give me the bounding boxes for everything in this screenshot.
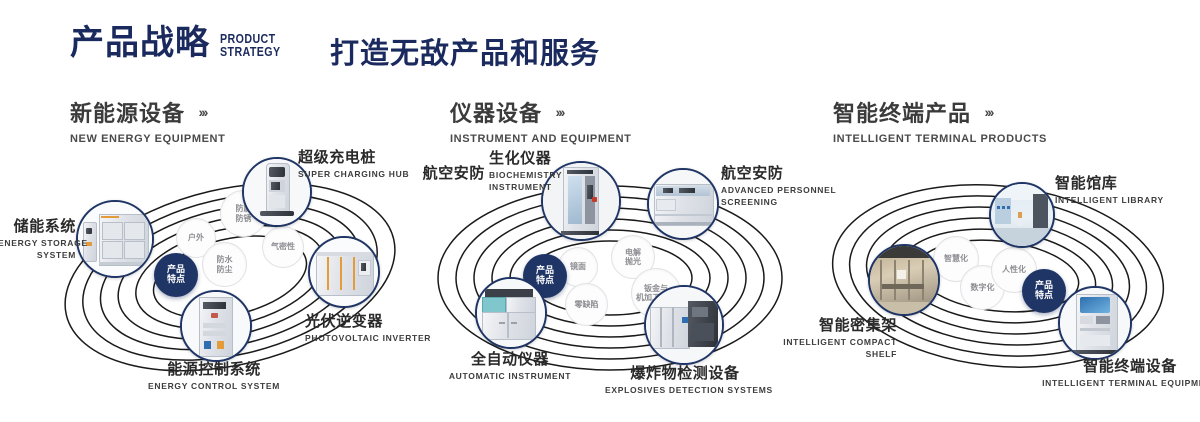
chevron-right-icon: ›››: [198, 104, 206, 120]
core-text-l2: 特点: [167, 275, 185, 285]
screening-machine-art: [649, 170, 717, 238]
diagram-new-energy: 户外 防腐 防锈 防水 防尘 气密性 产品 特点: [50, 150, 410, 400]
diagram-intelligent-terminal: 智慧化 数字化 人性化 产品 特点: [815, 150, 1185, 400]
section-title-en: INSTRUMENT AND EQUIPMENT: [450, 133, 631, 145]
section-title-cn: 新能源设备: [70, 96, 185, 128]
section-title-new-energy: 新能源设备 ››› NEW ENERGY EQUIPMENT: [70, 96, 225, 145]
self-service-kiosk-art: [1060, 288, 1130, 358]
node-label-en-line1: INTELLIGENT COMPACT: [737, 337, 897, 347]
node-label-cn: 储能系统: [0, 215, 76, 236]
feature-text-l1: 电解: [625, 248, 641, 257]
explosive-detector-art: [646, 287, 722, 363]
node-label-aviation-security-extra: 航空安防: [385, 162, 485, 183]
core-text-l1: 产品: [536, 266, 554, 276]
compact-shelf-art: [870, 246, 938, 314]
node-explosives-detection-systems[interactable]: [644, 285, 724, 365]
chevron-right-icon: ›››: [555, 104, 563, 120]
node-label-photovoltaic-inverter: 光伏逆变器 PHOTOVOLTAIC INVERTER: [305, 310, 431, 343]
node-label-intelligent-terminal-equipment: 智能终端设备 INTELLIGENT TERMINAL EQUIPMENT: [1040, 355, 1200, 388]
feature-text-l2: 防尘: [217, 265, 233, 274]
node-label-energy-control-system: 能源控制系统 ENERGY CONTROL SYSTEM: [134, 358, 294, 391]
node-label-cn: 爆炸物检测设备: [605, 362, 765, 383]
core-text-l2: 特点: [1035, 291, 1053, 301]
page-headline: 打造无敌产品和服务: [330, 30, 600, 72]
feature-text-l2: 抛光: [625, 257, 641, 266]
node-label-intelligent-library: 智能馆库 INTELLIGENT LIBRARY: [1055, 172, 1164, 205]
brand-title-en-line2: STRATEGY: [220, 45, 281, 58]
node-label-en-line2: SHELF: [737, 349, 897, 359]
feature-text-l1: 零缺陷: [575, 300, 599, 309]
feature-text-l1: 智慧化: [944, 254, 968, 263]
feature-text-l1: 镜面: [570, 262, 586, 271]
node-label-en-line1: ENERGY CONTROL SYSTEM: [134, 381, 294, 391]
node-label-intelligent-compact-shelf: 智能密集架 INTELLIGENT COMPACT SHELF: [737, 314, 897, 359]
node-label-energy-storage-system: 储能系统 ENERGY STORAGE SYSTEM: [0, 215, 76, 260]
node-label-explosives-detection-systems: 爆炸物检测设备 EXPLOSIVES DETECTION SYSTEMS: [605, 362, 765, 395]
brand-title-en: PRODUCT STRATEGY: [220, 32, 281, 58]
node-intelligent-terminal-equipment[interactable]: [1058, 286, 1132, 360]
feature-bubble: 气密性: [262, 226, 304, 268]
node-label-en-line1: ENERGY STORAGE: [0, 238, 76, 248]
feature-bubble: 零缺陷: [565, 283, 608, 326]
section-title-en: NEW ENERGY EQUIPMENT: [70, 133, 225, 145]
node-photovoltaic-inverter[interactable]: [308, 236, 380, 308]
node-label-cn: 全自动仪器: [430, 348, 590, 369]
section-title-instrument: 仪器设备 ››› INSTRUMENT AND EQUIPMENT: [450, 96, 631, 145]
node-label-cn: 航空安防: [385, 162, 485, 183]
energy-storage-cabinet-art: [78, 202, 152, 276]
node-label-en-line1: INTELLIGENT TERMINAL EQUIPMENT: [1040, 378, 1200, 388]
node-label-cn: 生化仪器: [489, 147, 562, 168]
core-text-l1: 产品: [167, 265, 185, 275]
node-label-en-line1: AUTOMATIC INSTRUMENT: [430, 371, 590, 381]
node-label-en-line1: PHOTOVOLTAIC INVERTER: [305, 333, 431, 343]
node-advanced-personnel-screening[interactable]: [647, 168, 719, 240]
section-title-cn: 智能终端产品: [833, 96, 971, 128]
node-label-biochemistry-instrument: 生化仪器 BIOCHEMISTRY INSTRUMENT: [489, 147, 562, 192]
feature-text-l1: 防水: [217, 255, 233, 264]
node-label-en-line1: EXPLOSIVES DETECTION SYSTEMS: [605, 385, 765, 395]
library-interior-art: [991, 184, 1053, 246]
node-label-en-line2: SYSTEM: [0, 250, 76, 260]
feature-text-l1: 人性化: [1002, 265, 1026, 274]
node-intelligent-compact-shelf[interactable]: [868, 244, 940, 316]
feature-text-l1: 气密性: [271, 242, 295, 251]
node-label-en-line1: BIOCHEMISTRY: [489, 170, 562, 180]
node-energy-control-system[interactable]: [180, 290, 252, 362]
node-automatic-instrument[interactable]: [475, 277, 547, 349]
pv-inverter-art: [310, 238, 378, 306]
node-label-automatic-instrument: 全自动仪器 AUTOMATIC INSTRUMENT: [430, 348, 590, 381]
control-cabinet-art: [182, 292, 250, 360]
poster-canvas: 产品战略 PRODUCT STRATEGY 打造无敌产品和服务 新能源设备 ››…: [0, 0, 1200, 422]
node-label-cn: 能源控制系统: [134, 358, 294, 379]
node-intelligent-library[interactable]: [989, 182, 1055, 248]
feature-text-l1: 数字化: [971, 283, 995, 292]
section-title-cn: 仪器设备: [450, 96, 542, 128]
automatic-analyzer-art: [477, 279, 545, 347]
diagram-instrument: 镜面 电解 抛光 零缺陷 钣金与 机加工结合 产品 特点: [425, 150, 795, 400]
section-title-en: INTELLIGENT TERMINAL PRODUCTS: [833, 133, 1047, 145]
node-label-cn: 智能馆库: [1055, 172, 1164, 193]
node-label-cn: 光伏逆变器: [305, 310, 431, 331]
brand-lockup: 产品战略 PRODUCT STRATEGY: [70, 26, 294, 60]
node-label-en-line2: INSTRUMENT: [489, 182, 562, 192]
core-bubble-product-features: 产品 特点: [154, 253, 198, 297]
section-title-intelligent-terminal: 智能终端产品 ››› INTELLIGENT TERMINAL PRODUCTS: [833, 96, 1047, 145]
node-label-cn: 智能密集架: [737, 314, 897, 335]
feature-bubble: 防水 防尘: [202, 242, 247, 287]
core-text-l1: 产品: [1035, 281, 1053, 291]
brand-title-cn: 产品战略: [70, 26, 210, 60]
node-label-cn: 智能终端设备: [1040, 355, 1200, 376]
feature-text-l1: 户外: [188, 233, 204, 242]
node-label-en-line1: INTELLIGENT LIBRARY: [1055, 195, 1164, 205]
chevron-right-icon: ›››: [984, 104, 992, 120]
